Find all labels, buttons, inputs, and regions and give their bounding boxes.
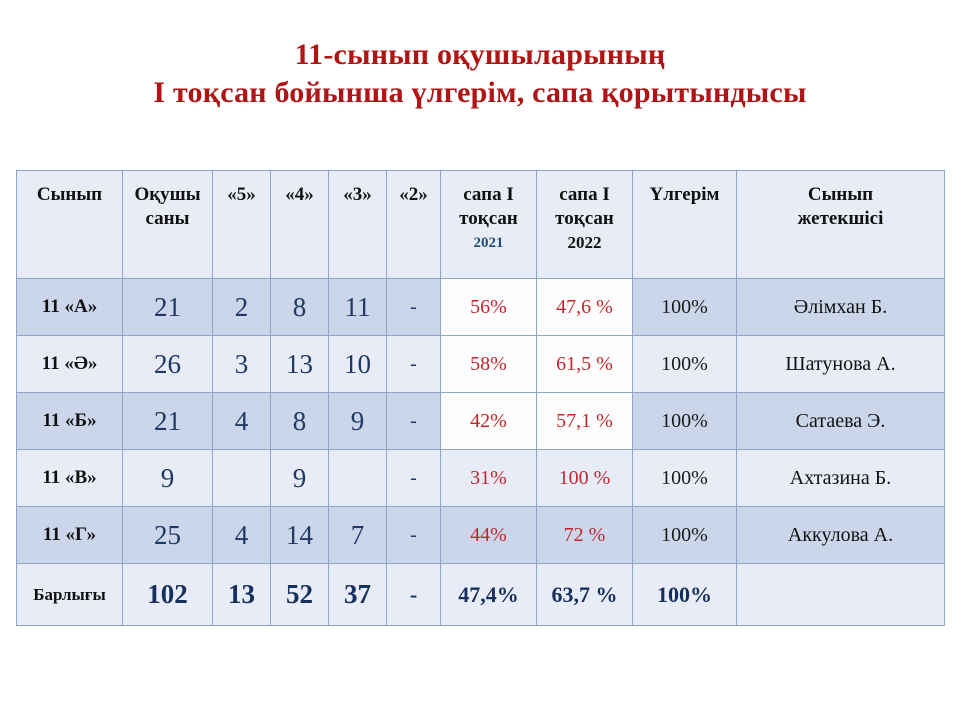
cell-total-performance: 100% — [633, 564, 737, 626]
cell-grade-3: 7 — [329, 507, 387, 564]
cell-grade-2: - — [387, 393, 441, 450]
column-header-grade-2: «2» — [387, 171, 441, 279]
cell-grade-5 — [213, 450, 271, 507]
quality-2021-line-2: тоқсан — [441, 207, 536, 231]
quality-2022-year: 2022 — [537, 231, 632, 255]
cell-student-count: 21 — [123, 393, 213, 450]
table-row: 11 «В» 9 9 - 31% 100 % 100% Ахтазина Б. — [17, 450, 945, 507]
cell-total-quality-2021: 47,4% — [441, 564, 537, 626]
cell-student-count: 25 — [123, 507, 213, 564]
cell-teacher: Әлімхан Б. — [737, 279, 945, 336]
cell-student-count: 9 — [123, 450, 213, 507]
cell-quality-2022: 100 % — [537, 450, 633, 507]
cell-performance: 100% — [633, 336, 737, 393]
cell-quality-2021: 42% — [441, 393, 537, 450]
cell-grade-5: 4 — [213, 507, 271, 564]
column-header-grade-5: «5» — [213, 171, 271, 279]
cell-total-grade-5: 13 — [213, 564, 271, 626]
cell-performance: 100% — [633, 279, 737, 336]
page-title: 11-сынып оқушыларының І тоқсан бойынша ү… — [0, 36, 960, 112]
cell-quality-2021: 56% — [441, 279, 537, 336]
cell-class: 11 «Ә» — [17, 336, 123, 393]
cell-student-count: 21 — [123, 279, 213, 336]
slide-page: 11-сынып оқушыларының І тоқсан бойынша ү… — [0, 0, 960, 720]
cell-performance: 100% — [633, 450, 737, 507]
cell-quality-2022: 57,1 % — [537, 393, 633, 450]
cell-total-grade-4: 52 — [271, 564, 329, 626]
table-row: 11 «Г» 25 4 14 7 - 44% 72 % 100% Аккулов… — [17, 507, 945, 564]
cell-grade-4: 8 — [271, 393, 329, 450]
column-header-student-count: Оқушы саны — [123, 171, 213, 279]
table-row: 11 «Б» 21 4 8 9 - 42% 57,1 % 100% Сатаев… — [17, 393, 945, 450]
cell-total-quality-2022: 63,7 % — [537, 564, 633, 626]
column-header-grade-4: «4» — [271, 171, 329, 279]
quality-2022-line-2: тоқсан — [537, 207, 632, 231]
cell-quality-2021: 31% — [441, 450, 537, 507]
cell-class: 11 «В» — [17, 450, 123, 507]
cell-grade-3 — [329, 450, 387, 507]
cell-performance: 100% — [633, 393, 737, 450]
cell-teacher: Сатаева Э. — [737, 393, 945, 450]
cell-grade-2: - — [387, 279, 441, 336]
cell-quality-2022: 72 % — [537, 507, 633, 564]
table-row: 11 «Ә» 26 3 13 10 - 58% 61,5 % 100% Шату… — [17, 336, 945, 393]
cell-grade-3: 10 — [329, 336, 387, 393]
column-header-grade-3: «3» — [329, 171, 387, 279]
cell-grade-4: 8 — [271, 279, 329, 336]
cell-grade-5: 4 — [213, 393, 271, 450]
table-total-row: Барлығы 102 13 52 37 - 47,4% 63,7 % 100% — [17, 564, 945, 626]
cell-total-teacher — [737, 564, 945, 626]
cell-performance: 100% — [633, 507, 737, 564]
cell-quality-2022: 61,5 % — [537, 336, 633, 393]
cell-quality-2021: 44% — [441, 507, 537, 564]
cell-total-student-count: 102 — [123, 564, 213, 626]
cell-quality-2021: 58% — [441, 336, 537, 393]
quality-2022-line-1: сапа I — [537, 183, 632, 207]
cell-class: 11 «Б» — [17, 393, 123, 450]
cell-total-label: Барлығы — [17, 564, 123, 626]
cell-teacher: Аккулова А. — [737, 507, 945, 564]
quality-2021-year: 2021 — [441, 231, 536, 255]
column-header-class: Сынып — [17, 171, 123, 279]
page-title-line-2: І тоқсан бойынша үлгерім, сапа қорытынды… — [0, 74, 960, 112]
cell-teacher: Ахтазина Б. — [737, 450, 945, 507]
column-header-quality-2021: сапа I тоқсан 2021 — [441, 171, 537, 279]
cell-teacher: Шатунова А. — [737, 336, 945, 393]
cell-grade-4: 9 — [271, 450, 329, 507]
grades-table: Сынып Оқушы саны «5» «4» «3» «2» сапа I … — [16, 170, 945, 626]
table-header-row: Сынып Оқушы саны «5» «4» «3» «2» сапа I … — [17, 171, 945, 279]
class-teacher-line-2: жетекшісі — [737, 207, 944, 231]
cell-grade-3: 11 — [329, 279, 387, 336]
cell-grade-3: 9 — [329, 393, 387, 450]
page-title-line-1: 11-сынып оқушыларының — [0, 36, 960, 74]
cell-class: 11 «Г» — [17, 507, 123, 564]
cell-total-grade-3: 37 — [329, 564, 387, 626]
cell-student-count: 26 — [123, 336, 213, 393]
cell-grade-5: 3 — [213, 336, 271, 393]
cell-grade-4: 13 — [271, 336, 329, 393]
grades-table-container: Сынып Оқушы саны «5» «4» «3» «2» сапа I … — [16, 170, 944, 626]
cell-quality-2022: 47,6 % — [537, 279, 633, 336]
cell-grade-5: 2 — [213, 279, 271, 336]
table-row: 11 «А» 21 2 8 11 - 56% 47,6 % 100% Әлімх… — [17, 279, 945, 336]
cell-grade-2: - — [387, 507, 441, 564]
class-teacher-line-1: Сынып — [737, 183, 944, 207]
cell-grade-2: - — [387, 450, 441, 507]
quality-2021-line-1: сапа I — [441, 183, 536, 207]
cell-grade-2: - — [387, 336, 441, 393]
column-header-class-teacher: Сынып жетекшісі — [737, 171, 945, 279]
column-header-quality-2022: сапа I тоқсан 2022 — [537, 171, 633, 279]
cell-class: 11 «А» — [17, 279, 123, 336]
cell-grade-4: 14 — [271, 507, 329, 564]
cell-total-grade-2: - — [387, 564, 441, 626]
column-header-performance: Үлгерім — [633, 171, 737, 279]
